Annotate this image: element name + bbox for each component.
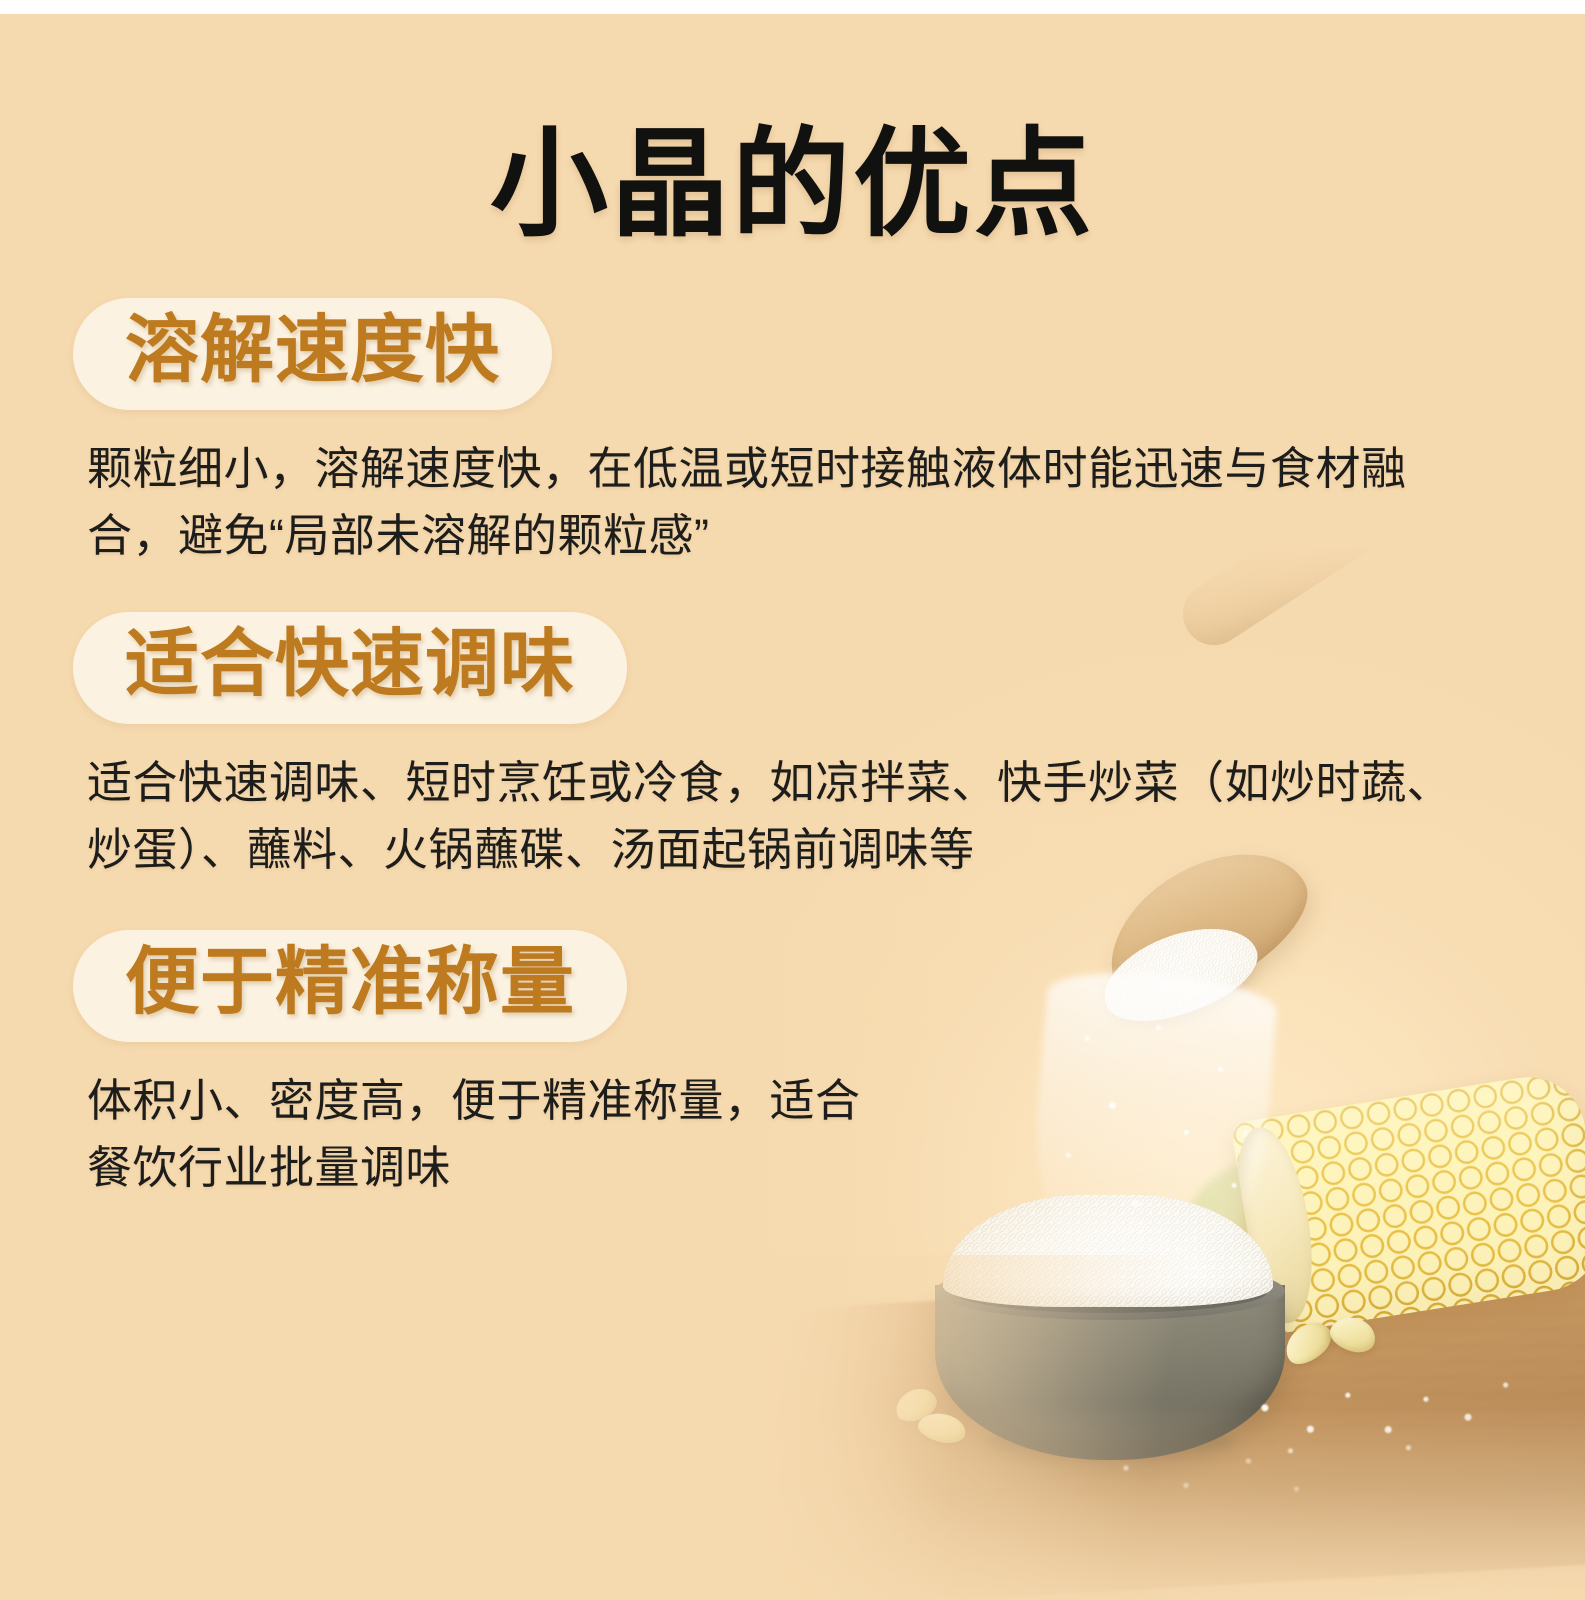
top-white-strip [0,0,1585,14]
feature-heading-label: 溶解速度快 [125,307,500,393]
msg-crystal-mound-texture [943,1195,1273,1307]
corn-husk [1165,1134,1386,1326]
feature-heading-pill-quick-seasoning: 适合快速调味 [73,612,627,724]
cutting-board-grain [794,1297,1585,1574]
corn-kernel [916,1409,969,1446]
photo-edge-fade [700,1255,1585,1600]
product-feature-poster: 小晶的优点 溶解速度快 颗粒细小，溶解速度快，在低温或短时接触液体时能迅速与食材… [0,0,1585,1600]
corn-cob-kernels [1230,1069,1585,1336]
feature-section-dissolve-speed: 溶解速度快 颗粒细小，溶解速度快，在低温或短时接触液体时能迅速与食材融合，避免“… [73,298,1477,569]
feature-heading-label: 适合快速调味 [125,621,575,707]
corn-cob [1230,1069,1585,1336]
bowl-shadow [985,1425,1235,1459]
corn-kernel [1278,1314,1338,1372]
page-title: 小晶的优点 [0,118,1585,250]
feature-body-dissolve-speed: 颗粒细小，溶解速度快，在低温或短时接触液体时能迅速与食材融合，避免“局部未溶解的… [87,436,1477,569]
falling-crystal-speckles [1010,991,1301,1319]
corn-kernel [891,1383,942,1427]
feature-body-precise-weighing: 体积小、密度高，便于精准称量，适合餐饮行业批量调味 [87,1068,877,1201]
ceramic-bowl-rim-inner [953,1271,1267,1313]
corn-cob-cut-end [1230,1122,1323,1329]
corn-kernel [1326,1312,1380,1358]
feature-heading-label: 便于精准称量 [125,939,575,1025]
falling-crystal-stream [1021,966,1279,1315]
feature-body-quick-seasoning: 适合快速调味、短时烹饪或冷食，如凉拌菜、快手炒菜（如炒时蔬、炒蛋）、蘸料、火锅蘸… [87,750,1477,883]
scattered-crystals [1232,1357,1549,1474]
spoon-msg-crystals [1091,910,1268,1038]
scattered-crystals [1090,1440,1330,1510]
feature-heading-pill-dissolve-speed: 溶解速度快 [73,298,552,410]
ceramic-bowl [935,1285,1285,1460]
feature-section-precise-weighing: 便于精准称量 体积小、密度高，便于精准称量，适合餐饮行业批量调味 [73,930,877,1201]
ceramic-bowl-rim [935,1262,1285,1320]
spoon-msg-crystals-texture [1091,910,1268,1038]
feature-heading-pill-precise-weighing: 便于精准称量 [73,930,627,1042]
feature-section-quick-seasoning: 适合快速调味 适合快速调味、短时烹饪或冷食，如凉拌菜、快手炒菜（如炒时蔬、炒蛋）… [73,612,1477,883]
msg-crystal-mound [943,1195,1273,1307]
cutting-board [762,1260,1585,1600]
